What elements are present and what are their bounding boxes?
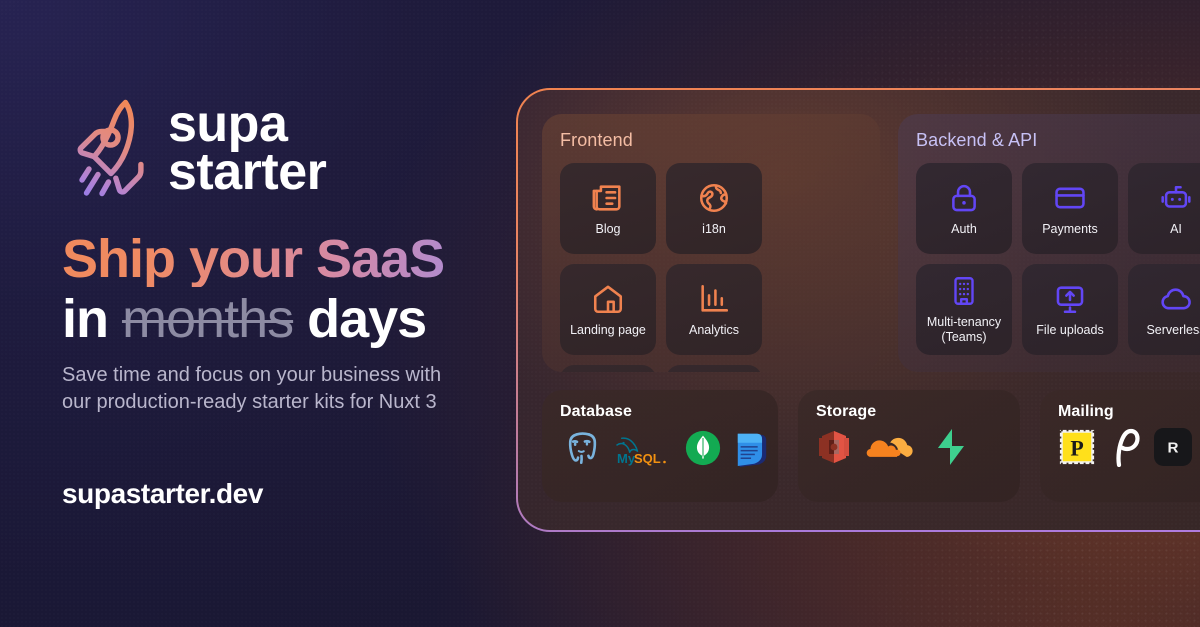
home-icon <box>591 282 625 316</box>
hero-left-column: supa starter Ship your SaaS in months da… <box>62 0 532 627</box>
tile-label: Payments <box>1042 222 1098 237</box>
tile-label: Multi-tenancy (Teams) <box>927 315 1001 345</box>
supabase-logo[interactable] <box>934 427 968 467</box>
strip-mailing-brands: P <box>1058 427 1200 467</box>
credit-card-icon <box>1053 181 1087 215</box>
panel-backend-title: Backend & API <box>916 130 1200 151</box>
strip-database-brands: My SQL <box>560 427 760 469</box>
tile-label: Landing page <box>570 323 646 338</box>
brand-wordmark: supa starter <box>168 100 326 197</box>
tile-admin-ui[interactable]: Admin UI <box>666 365 762 372</box>
headline-line-2: in months days <box>62 289 532 349</box>
tile-label: Serverless <box>1146 323 1200 338</box>
aws-s3-logo[interactable] <box>816 427 852 467</box>
mysql-logo[interactable]: My SQL <box>614 430 672 466</box>
tile-multi-tenancy[interactable]: Multi-tenancy (Teams) <box>916 264 1012 355</box>
feature-panels-row: Frontend Blog <box>542 114 1200 372</box>
strip-mailing: Mailing P <box>1040 390 1200 502</box>
strip-mailing-title: Mailing <box>1058 403 1200 421</box>
robot-icon <box>1159 181 1193 215</box>
tile-file-uploads[interactable]: File uploads <box>1022 264 1118 355</box>
brand-name-line2: starter <box>168 148 326 196</box>
tile-label: Analytics <box>689 323 739 338</box>
hero-headline: Ship your SaaS in months days <box>62 232 532 350</box>
mongodb-logo[interactable] <box>684 429 722 467</box>
headline-line-1: Ship your SaaS <box>62 232 532 287</box>
svg-text:P: P <box>1070 437 1083 461</box>
tile-analytics[interactable]: Analytics <box>666 264 762 355</box>
rocket-icon <box>62 92 150 204</box>
postmark-logo[interactable]: P <box>1058 428 1096 466</box>
lock-icon <box>947 181 981 215</box>
monitor-upload-icon <box>1053 282 1087 316</box>
svg-text:My: My <box>617 451 636 466</box>
headline-emphasis-word: days <box>307 289 426 349</box>
integration-strips-row: Database <box>542 390 1200 502</box>
tile-label: AI <box>1170 222 1182 237</box>
strip-database: Database <box>542 390 778 502</box>
newspaper-icon <box>591 181 625 215</box>
brand-logo[interactable]: supa starter <box>62 92 326 204</box>
strip-storage-title: Storage <box>816 403 1002 421</box>
tile-label: Blog <box>595 222 620 237</box>
building-icon <box>947 274 981 308</box>
hero-subtitle: Save time and focus on your business wit… <box>62 362 462 416</box>
panel-backend-api: Backend & API Auth <box>898 114 1200 372</box>
strip-storage-brands <box>816 427 1002 467</box>
headline-prefix: in <box>62 289 108 349</box>
tile-label: i18n <box>702 222 726 237</box>
turso-logo[interactable] <box>734 429 770 467</box>
strip-storage: Storage <box>798 390 1020 502</box>
cloudflare-r2-logo[interactable] <box>864 429 922 465</box>
brand-name-line1: supa <box>168 100 326 148</box>
cloud-icon <box>1159 282 1193 316</box>
feature-board: Frontend Blog <box>516 88 1200 532</box>
tile-label: File uploads <box>1036 323 1103 338</box>
svg-text:R: R <box>1168 440 1179 457</box>
feature-board-inner: Frontend Blog <box>518 90 1200 530</box>
postgresql-logo[interactable] <box>560 427 602 469</box>
tile-blog[interactable]: Blog <box>560 163 656 254</box>
resend-logo[interactable]: R <box>1154 428 1192 466</box>
bar-chart-icon <box>697 282 731 316</box>
tile-ai[interactable]: AI <box>1128 163 1200 254</box>
panel-frontend-tiles: Blog i18n <box>560 163 862 372</box>
tile-payments[interactable]: Payments <box>1022 163 1118 254</box>
tile-auth[interactable]: Auth <box>916 163 1012 254</box>
strip-database-title: Database <box>560 403 760 421</box>
plunk-logo[interactable] <box>1108 427 1142 467</box>
svg-text:SQL: SQL <box>634 451 661 466</box>
globe-icon <box>697 181 731 215</box>
panel-backend-tiles: Auth Payments <box>916 163 1200 355</box>
panel-frontend: Frontend Blog <box>542 114 880 372</box>
tile-label: Auth <box>951 222 977 237</box>
brand-url[interactable]: supastarter.dev <box>62 478 263 510</box>
tile-dashboard-settings[interactable]: Dashboard & Settings <box>560 365 656 372</box>
tile-landing-page[interactable]: Landing page <box>560 264 656 355</box>
headline-struck-word: months <box>122 289 293 349</box>
panel-frontend-title: Frontend <box>560 130 862 151</box>
tile-i18n[interactable]: i18n <box>666 163 762 254</box>
tile-serverless[interactable]: Serverless <box>1128 264 1200 355</box>
